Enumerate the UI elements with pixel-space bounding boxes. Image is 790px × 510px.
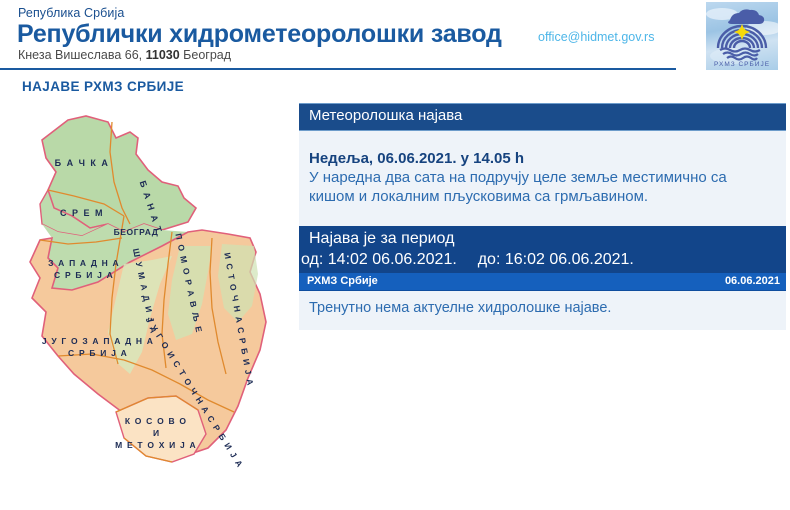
map-label-zapadna-srbija: З А П А Д Н А [48,258,120,268]
period-from-label: од: [301,251,323,268]
period-to-value: 16:02 06.06.2021. [505,251,634,268]
period-from-value: 14:02 06.06.2021. [328,251,457,268]
map-label-zapadna-srbija-line2: С Р Б И Ј А [54,270,114,280]
page-title: Републички хидрометеоролошки завод [17,20,502,49]
map-label-backa: Б А Ч К А [55,158,110,168]
period-to-label: до: [478,251,501,268]
hydro-announcement-body: Тренутно нема актуелне хидролошке најаве… [299,291,786,330]
serbia-map-svg: Б А Ч К А Б А Н А Т С Р Е М БЕОГРАД З А … [12,112,297,484]
address-zip: 11030 [146,48,180,62]
serbia-map[interactable]: Б А Ч К А Б А Н А Т С Р Е М БЕОГРАД З А … [12,112,297,484]
panel-spacer-top [299,131,786,140]
meteo-announcement-header: Метеоролошка најава [299,103,786,131]
map-label-beograd: БЕОГРАД [114,227,159,237]
logo-text: РХМЗ СРБИЈЕ [714,61,770,68]
map-label-srem: С Р Е М [60,208,104,218]
meteo-period-block: Најава је за период од: 14:02 06.06.2021… [299,226,786,273]
meteo-timestamp: Недеља, 06.06.2021. у 14.05 h [309,150,776,167]
announcements-panel: Метеоролошка најава Недеља, 06.06.2021. … [299,103,786,330]
meteo-period-range: од: 14:02 06.06.2021. до: 16:02 06.06.20… [299,250,786,271]
contact-email-link[interactable]: office@hidmet.gov.rs [538,30,654,44]
map-label-jugozapadna-srbija-line2: С Р Б И Ј А [68,348,128,358]
address-street: Кнеза Вишеслава 66, [18,48,142,62]
map-label-kosovo: К О С О В О [125,416,187,426]
meteo-description: У наредна два сата на подручју целе земљ… [309,168,776,206]
header-divider [0,68,676,70]
map-label-kosovo-i: И [153,428,159,438]
meteo-announcement-body: Недеља, 06.06.2021. у 14.05 h У наредна … [299,140,786,218]
hydro-announcement-header: РХМЗ Србије 06.06.2021 [299,273,786,291]
page-header: Република Србија Републички хидрометеоро… [0,0,790,70]
organization-address: Кнеза Вишеслава 66, 11030 Београд [18,48,231,62]
section-heading: НАЈАВЕ РХМЗ СРБИЈЕ [22,79,184,94]
hydro-date: 06.06.2021 [725,275,780,287]
map-label-metohija: М Е Т О Х И Ј А [115,440,197,450]
address-city: Београд [183,48,231,62]
logo-artwork: РХМЗ СРБИЈЕ [706,2,778,70]
map-label-jugozapadna-srbija: Ј У Г О З А П А Д Н А [42,336,154,346]
rhmz-logo: РХМЗ СРБИЈЕ [706,2,778,70]
organization-country: Република Србија [18,6,124,20]
meteo-period-title: Најава је за период [299,229,786,250]
panel-spacer-mid [299,218,786,226]
hydro-source: РХМЗ Србије [307,275,378,287]
